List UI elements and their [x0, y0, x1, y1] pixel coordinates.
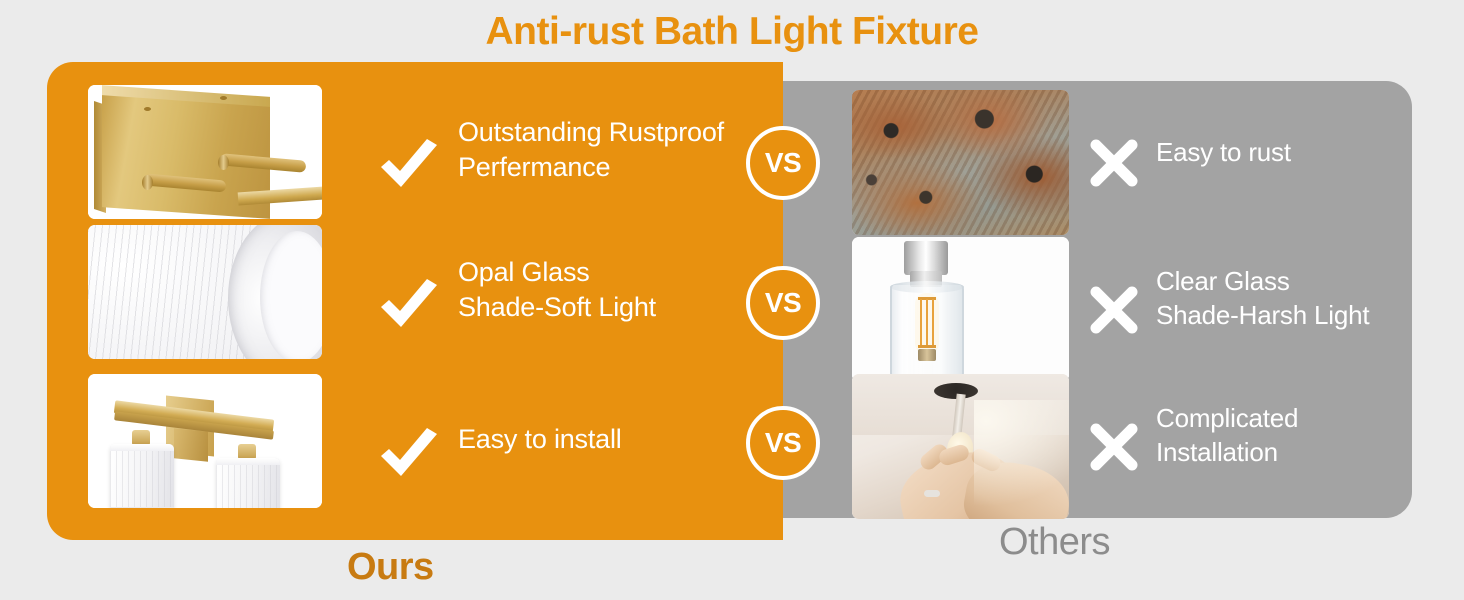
- arm-ring-icon: [142, 175, 153, 190]
- ours-label: Ours: [347, 546, 434, 589]
- others-panel: Easy to rust: [783, 81, 1412, 518]
- bulb-cap-icon: [904, 241, 948, 275]
- fixture-backplate-shadow-icon: [174, 428, 208, 462]
- filament-icon: [920, 299, 922, 347]
- two-light-vanity-fixture-image: [88, 374, 322, 508]
- cross-icon: [1088, 137, 1140, 189]
- vs-badge: VS: [746, 126, 820, 200]
- bulb-base-icon: [918, 349, 936, 361]
- check-icon: [377, 135, 441, 199]
- ours-feature-text: Outstanding Rustproof Perfermance: [458, 115, 758, 184]
- clear-glass-art: [852, 237, 1069, 382]
- ours-feature-row: Easy to install: [47, 374, 783, 514]
- ours-feature-text: Opal Glass Shade-Soft Light: [458, 255, 758, 324]
- others-feature-row: Clear Glass Shade-Harsh Light: [783, 237, 1412, 382]
- vs-badge: VS: [746, 406, 820, 480]
- others-feature-text: Easy to rust: [1156, 136, 1406, 170]
- screw-icon: [220, 96, 227, 100]
- shade-lip-icon: [110, 507, 174, 508]
- filament-icon: [932, 299, 934, 347]
- opal-shade-art: [88, 225, 322, 359]
- ours-feature-line: Opal Glass: [458, 255, 758, 290]
- ours-feature-line: Easy to install: [458, 422, 758, 457]
- cross-icon: [1088, 421, 1140, 473]
- ours-feature-row: Opal Glass Shade-Soft Light: [47, 225, 783, 365]
- shade-icon: [216, 458, 280, 508]
- others-feature-line: Easy to rust: [1156, 136, 1406, 170]
- comparison-infographic: Anti-rust Bath Light Fixture Easy to rus…: [0, 0, 1464, 600]
- clear-glass-cylinder-image: [852, 237, 1069, 382]
- page-title: Anti-rust Bath Light Fixture: [0, 10, 1464, 54]
- others-feature-row: Easy to rust: [783, 90, 1412, 235]
- ours-feature-text: Easy to install: [458, 422, 758, 457]
- others-feature-text: Complicated Installation: [1156, 402, 1406, 470]
- ours-panel: Outstanding Rustproof Perfermance Opal G…: [47, 62, 783, 540]
- rusted-metal-surface-image: [852, 90, 1069, 235]
- hands-installing-bulb-image: [852, 374, 1069, 519]
- others-label: Others: [999, 521, 1110, 564]
- opal-glass-shade-image: [88, 225, 322, 359]
- backplate-art: [88, 85, 322, 219]
- filament-icon: [926, 299, 928, 347]
- arm-ring-icon: [218, 155, 229, 170]
- others-feature-row: Complicated Installation: [783, 374, 1412, 519]
- check-icon: [377, 275, 441, 339]
- shade-top-icon: [110, 444, 174, 451]
- others-feature-line: Clear Glass: [1156, 265, 1406, 299]
- light-glow-icon: [974, 400, 1069, 507]
- others-feature-line: Installation: [1156, 436, 1406, 470]
- ours-feature-line: Perfermance: [458, 150, 758, 185]
- vanity-fixture-art: [88, 374, 322, 508]
- shade-icon: [110, 444, 174, 508]
- ring-icon: [924, 490, 940, 497]
- check-icon: [377, 424, 441, 488]
- ours-feature-line: Shade-Soft Light: [458, 290, 758, 325]
- others-feature-line: Complicated: [1156, 402, 1406, 436]
- others-feature-line: Shade-Harsh Light: [1156, 299, 1406, 333]
- screw-icon: [144, 107, 151, 111]
- filament-bridge-icon: [918, 345, 936, 348]
- installation-photo-art: [852, 374, 1069, 519]
- gold-backplate-image: [88, 85, 322, 219]
- ours-feature-row: Outstanding Rustproof Perfermance: [47, 85, 783, 225]
- rust-texture-icon: [852, 90, 1069, 235]
- others-feature-text: Clear Glass Shade-Harsh Light: [1156, 265, 1406, 333]
- ours-feature-line: Outstanding Rustproof: [458, 115, 758, 150]
- cross-icon: [1088, 284, 1140, 336]
- shade-top-icon: [216, 458, 280, 465]
- vs-badge: VS: [746, 266, 820, 340]
